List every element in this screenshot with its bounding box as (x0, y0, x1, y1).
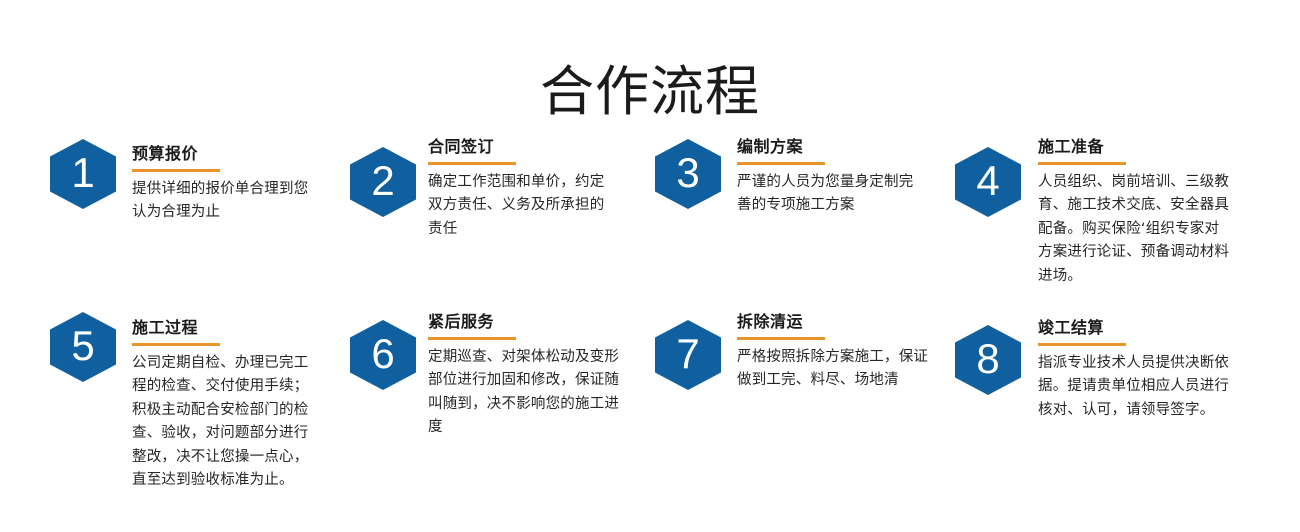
step-description-5: 公司定期自检、办理已完工程的检查、交付使用手续；积极主动配合安检部门的检查、验收… (132, 352, 322, 493)
step-title-underline-3 (737, 162, 825, 165)
step-content-1: 预算报价 提供详细的报价单合理到您认为合理为止 (132, 144, 312, 225)
step-number-badge-4: 4 (955, 147, 1021, 217)
step-number-badge-2: 2 (350, 147, 416, 217)
step-title-underline-1 (132, 169, 220, 172)
step-content-2: 合同签订 确定工作范围和单价，约定双方责任、义务及所承担的责任 (428, 137, 618, 241)
step-number-1: 1 (71, 152, 94, 196)
step-number-badge-5: 5 (50, 312, 116, 382)
step-number-8: 8 (976, 338, 999, 382)
step-number-badge-8: 8 (955, 325, 1021, 395)
step-title-underline-7 (737, 337, 825, 340)
step-title-7: 拆除清运 (737, 312, 937, 332)
step-content-4: 施工准备 人员组织、岗前培训、三级教育、施工技术交底、安全器具配备。购买保险‘组… (1038, 137, 1233, 288)
step-description-6: 定期巡查、对架体松动及变形部位进行加固和修改，保证随叫随到，决不影响您的施工进度 (428, 346, 628, 440)
step-title-underline-6 (428, 337, 516, 340)
step-title-6: 紧后服务 (428, 312, 628, 332)
step-description-7: 严格按照拆除方案施工，保证做到工完、料尽、场地清 (737, 346, 937, 393)
step-title-underline-4 (1038, 162, 1126, 165)
step-number-2: 2 (371, 160, 394, 204)
step-number-7: 7 (676, 333, 699, 377)
step-description-3: 严谨的人员为您量身定制完善的专项施工方案 (737, 171, 917, 218)
step-title-underline-2 (428, 162, 516, 165)
step-title-1: 预算报价 (132, 144, 312, 164)
step-title-8: 竣工结算 (1038, 318, 1243, 338)
step-number-badge-6: 6 (350, 320, 416, 390)
step-description-2: 确定工作范围和单价，约定双方责任、义务及所承担的责任 (428, 171, 618, 241)
step-number-badge-7: 7 (655, 320, 721, 390)
step-description-4: 人员组织、岗前培训、三级教育、施工技术交底、安全器具配备。购买保险‘组织专家对方… (1038, 171, 1233, 288)
step-title-2: 合同签订 (428, 137, 618, 157)
step-number-4: 4 (976, 160, 999, 204)
step-number-6: 6 (371, 333, 394, 377)
step-title-4: 施工准备 (1038, 137, 1233, 157)
step-content-3: 编制方案 严谨的人员为您量身定制完善的专项施工方案 (737, 137, 917, 218)
step-number-badge-3: 3 (655, 139, 721, 209)
step-title-underline-5 (132, 343, 220, 346)
step-content-8: 竣工结算 指派专业技术人员提供决断依据。提请贵单位相应人员进行核对、认可，请领导… (1038, 318, 1243, 422)
step-content-5: 施工过程 公司定期自检、办理已完工程的检查、交付使用手续；积极主动配合安检部门的… (132, 318, 322, 493)
step-content-6: 紧后服务 定期巡查、对架体松动及变形部位进行加固和修改，保证随叫随到，决不影响您… (428, 312, 628, 440)
step-title-5: 施工过程 (132, 318, 322, 338)
page-title: 合作流程 (0, 62, 1300, 121)
step-description-8: 指派专业技术人员提供决断依据。提请贵单位相应人员进行核对、认可，请领导签字。 (1038, 352, 1243, 422)
step-title-3: 编制方案 (737, 137, 917, 157)
step-number-5: 5 (71, 325, 94, 369)
step-number-badge-1: 1 (50, 139, 116, 209)
step-description-1: 提供详细的报价单合理到您认为合理为止 (132, 178, 312, 225)
step-title-underline-8 (1038, 343, 1126, 346)
step-content-7: 拆除清运 严格按照拆除方案施工，保证做到工完、料尽、场地清 (737, 312, 937, 393)
step-number-3: 3 (676, 152, 699, 196)
